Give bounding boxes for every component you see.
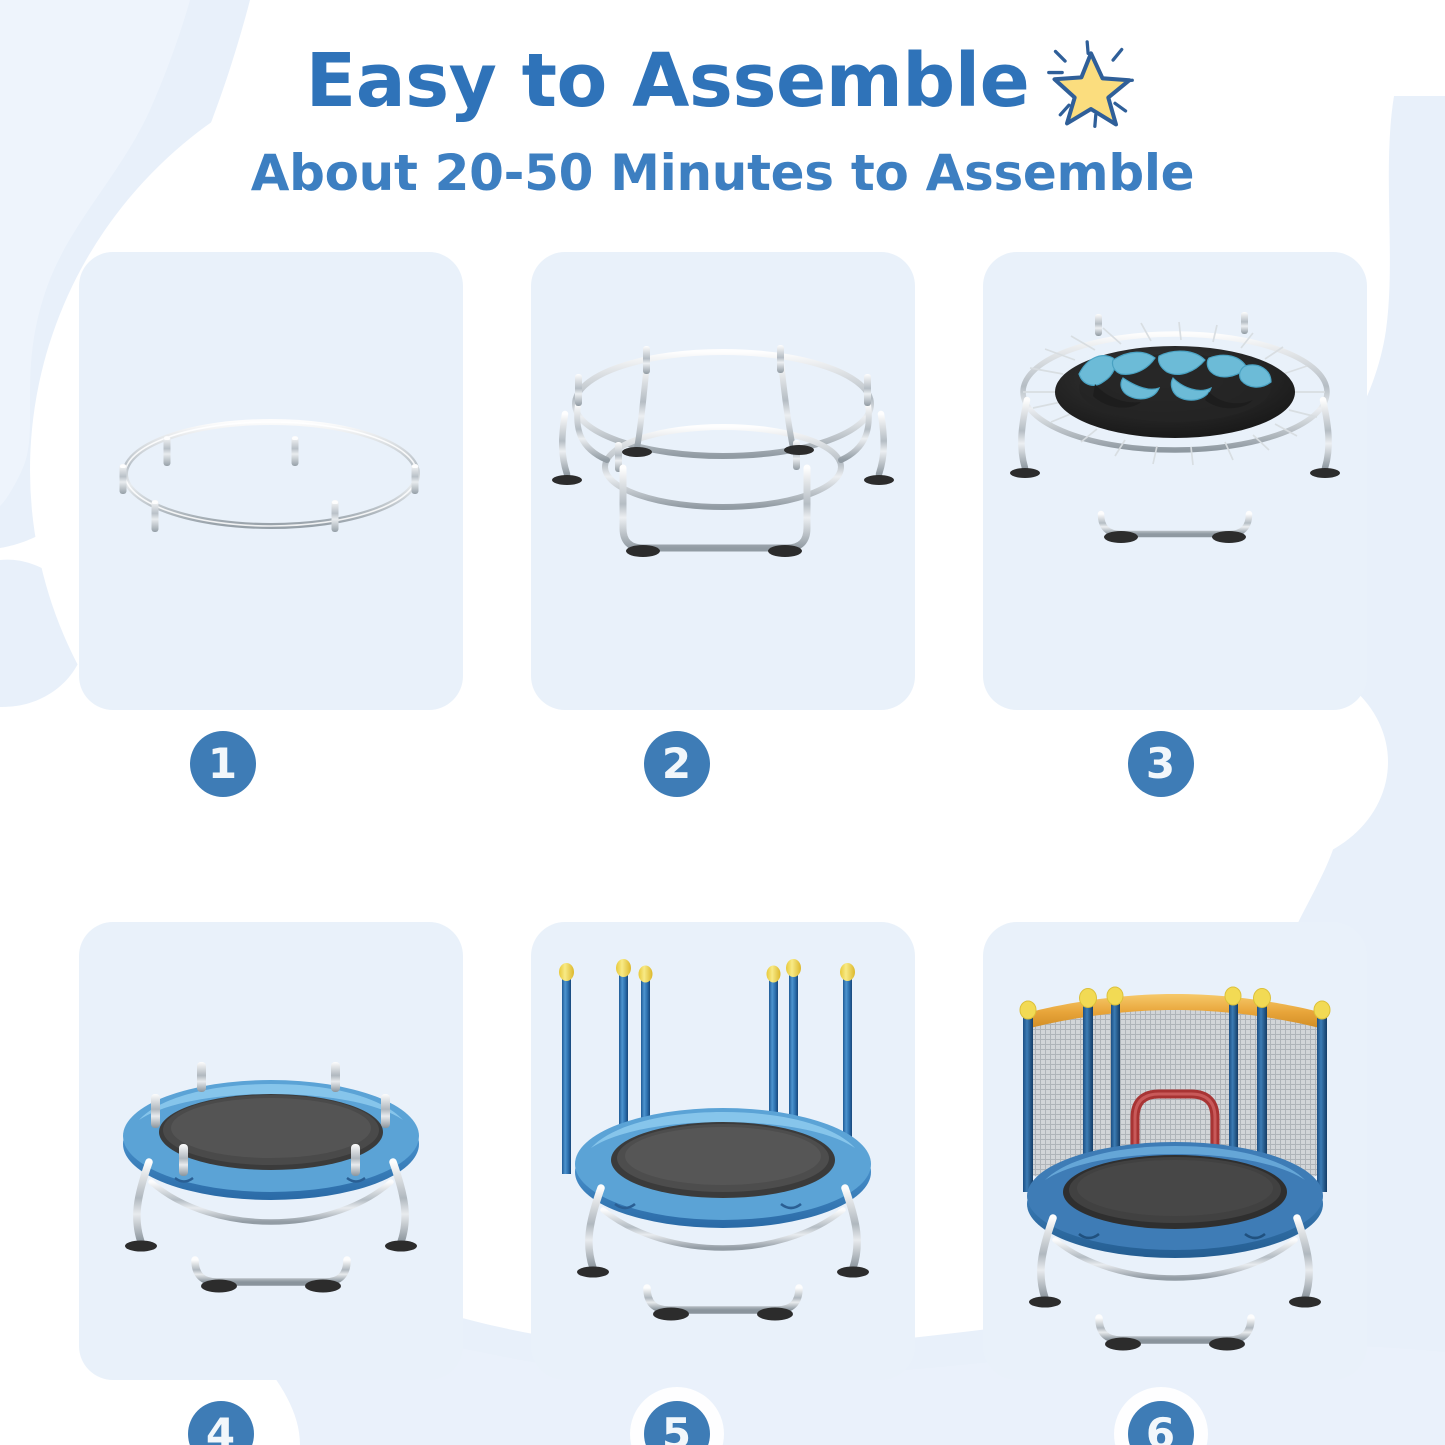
step-5-badge-slot: 5	[531, 1380, 915, 1445]
step-5-enclosure-poles-illustration	[531, 922, 915, 1380]
step-4-cell: 4	[79, 922, 463, 1445]
step-1-frame-ring-illustration	[79, 252, 463, 710]
step-6-panel	[983, 922, 1367, 1380]
header: Easy to Assemble	[0, 34, 1445, 202]
step-2-badge-slot: 2	[531, 710, 915, 818]
infographic-page: Easy to Assemble	[0, 0, 1445, 1445]
step-5-panel	[531, 922, 915, 1380]
steps-row-top: 1	[0, 252, 1445, 818]
step-2-cell: 2	[531, 252, 915, 818]
step-6-cell: 6	[983, 922, 1367, 1445]
step-6-safety-net-illustration	[983, 922, 1367, 1380]
step-1-badge-slot: 1	[79, 710, 463, 818]
step-number-badge: 4	[188, 1401, 254, 1445]
step-number-badge: 1	[190, 731, 256, 797]
step-1-cell: 1	[79, 252, 463, 818]
step-3-panel	[983, 252, 1367, 710]
step-6-badge-slot: 6	[983, 1380, 1367, 1445]
step-4-safety-pad-illustration	[79, 922, 463, 1380]
assembly-steps-grid: 1	[0, 252, 1445, 1445]
step-3-jump-mat-illustration	[983, 252, 1367, 710]
step-2-legs-attached-illustration	[531, 252, 915, 710]
step-3-cell: 3	[983, 252, 1367, 818]
step-number-badge: 3	[1128, 731, 1194, 797]
step-3-badge-slot: 3	[983, 710, 1367, 818]
step-4-badge-slot: 4	[79, 1380, 463, 1445]
page-title: Easy to Assemble	[306, 44, 1030, 119]
step-1-panel	[79, 252, 463, 710]
step-2-panel	[531, 252, 915, 710]
step-number-badge: 5	[644, 1401, 710, 1445]
steps-row-bottom: 4	[0, 922, 1445, 1445]
step-number-badge: 6	[1128, 1401, 1194, 1445]
step-number-badge: 2	[644, 731, 710, 797]
title-row: Easy to Assemble	[0, 34, 1445, 130]
sparkle-star-icon	[1043, 38, 1139, 134]
step-5-cell: 5	[531, 922, 915, 1445]
page-subtitle: About 20-50 Minutes to Assemble	[0, 144, 1445, 202]
step-4-panel	[79, 922, 463, 1380]
